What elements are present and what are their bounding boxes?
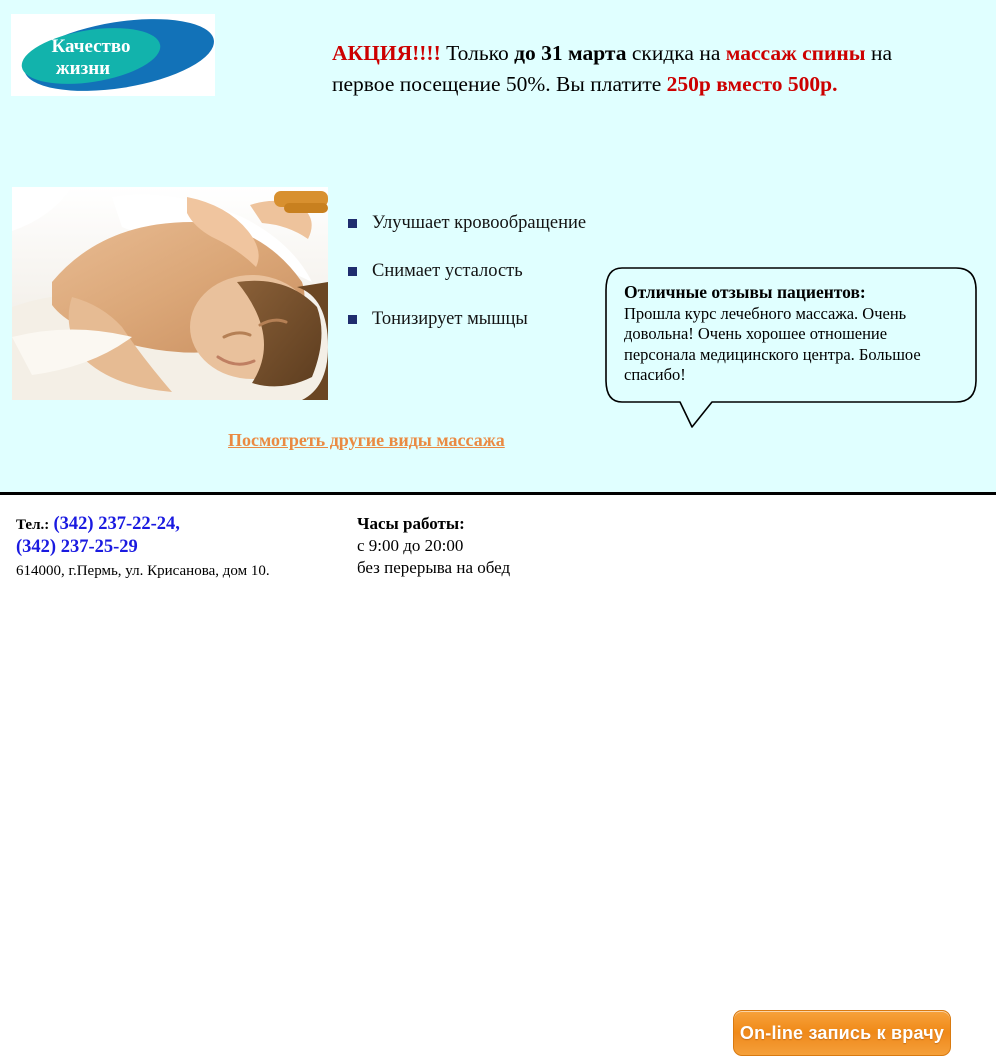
promo-action-word: АКЦИЯ!!!! <box>332 41 441 65</box>
working-hours-line-2: без перерыва на обед <box>357 557 510 579</box>
benefit-item: Снимает усталость <box>346 260 616 282</box>
benefit-label: Улучшает кровообращение <box>372 213 586 233</box>
massage-photo-graphic <box>12 187 328 400</box>
massage-photo <box>12 187 328 400</box>
phone-label: Тел.: <box>16 517 49 533</box>
logo-line-2: жизни <box>56 58 110 79</box>
testimonial-title: Отличные отзывы пациентов: <box>624 282 960 303</box>
footer: Тел.: (342) 237-22-24, (342) 237-25-29 6… <box>0 495 996 632</box>
promo-deadline: до 31 марта <box>514 41 626 65</box>
promo-service: массаж спины <box>726 41 866 65</box>
benefits-list: Улучшает кровообращение Снимает усталост… <box>346 212 616 356</box>
benefit-item: Улучшает кровообращение <box>346 212 616 234</box>
phone-number-1[interactable]: (342) 237-22-24, <box>54 514 180 534</box>
benefit-label: Снимает усталость <box>372 261 523 281</box>
square-bullet-icon <box>348 267 357 276</box>
main-panel: Качество жизни АКЦИЯ!!!! Только до 31 ма… <box>0 0 996 492</box>
promo-price: 250р вместо 500р. <box>667 72 838 96</box>
promo-text-2: скидка на <box>626 41 725 65</box>
working-hours-block: Часы работы: с 9:00 до 20:00 без перерыв… <box>357 513 510 579</box>
phone-line-1: Тел.: (342) 237-22-24, <box>16 513 346 536</box>
promo-text-1: Только <box>441 41 514 65</box>
promo-headline: АКЦИЯ!!!! Только до 31 марта скидка на м… <box>332 38 892 100</box>
testimonial-body: Прошла курс лечебного массажа. Очень дов… <box>624 304 921 385</box>
online-booking-button[interactable]: On-line запись к врачу <box>733 1010 951 1056</box>
online-booking-button-label: On-line запись к врачу <box>740 1023 944 1044</box>
testimonial-bubble: Отличные отзывы пациентов: Прошла курс л… <box>600 262 982 434</box>
working-hours-line-1: с 9:00 до 20:00 <box>357 535 510 557</box>
promo-page: Качество жизни АКЦИЯ!!!! Только до 31 ма… <box>0 0 996 632</box>
more-massage-types-link[interactable]: Посмотреть другие виды массажа <box>228 430 505 451</box>
phone-number-2[interactable]: (342) 237-25-29 <box>16 537 138 557</box>
benefit-label: Тонизирует мышцы <box>372 309 528 329</box>
square-bullet-icon <box>348 315 357 324</box>
company-logo[interactable]: Качество жизни <box>11 14 215 96</box>
contact-block: Тел.: (342) 237-22-24, (342) 237-25-29 6… <box>16 513 346 582</box>
working-hours-title: Часы работы: <box>357 513 510 535</box>
square-bullet-icon <box>348 219 357 228</box>
benefit-item: Тонизирует мышцы <box>346 308 616 330</box>
testimonial-text: Отличные отзывы пациентов: Прошла курс л… <box>624 282 960 386</box>
logo-graphic: Качество жизни <box>11 14 215 96</box>
phone-line-2: (342) 237-25-29 <box>16 536 346 558</box>
address-text: 614000, г.Пермь, ул. Крисанова, дом 10. <box>16 560 346 582</box>
logo-line-1: Качество <box>51 36 130 57</box>
